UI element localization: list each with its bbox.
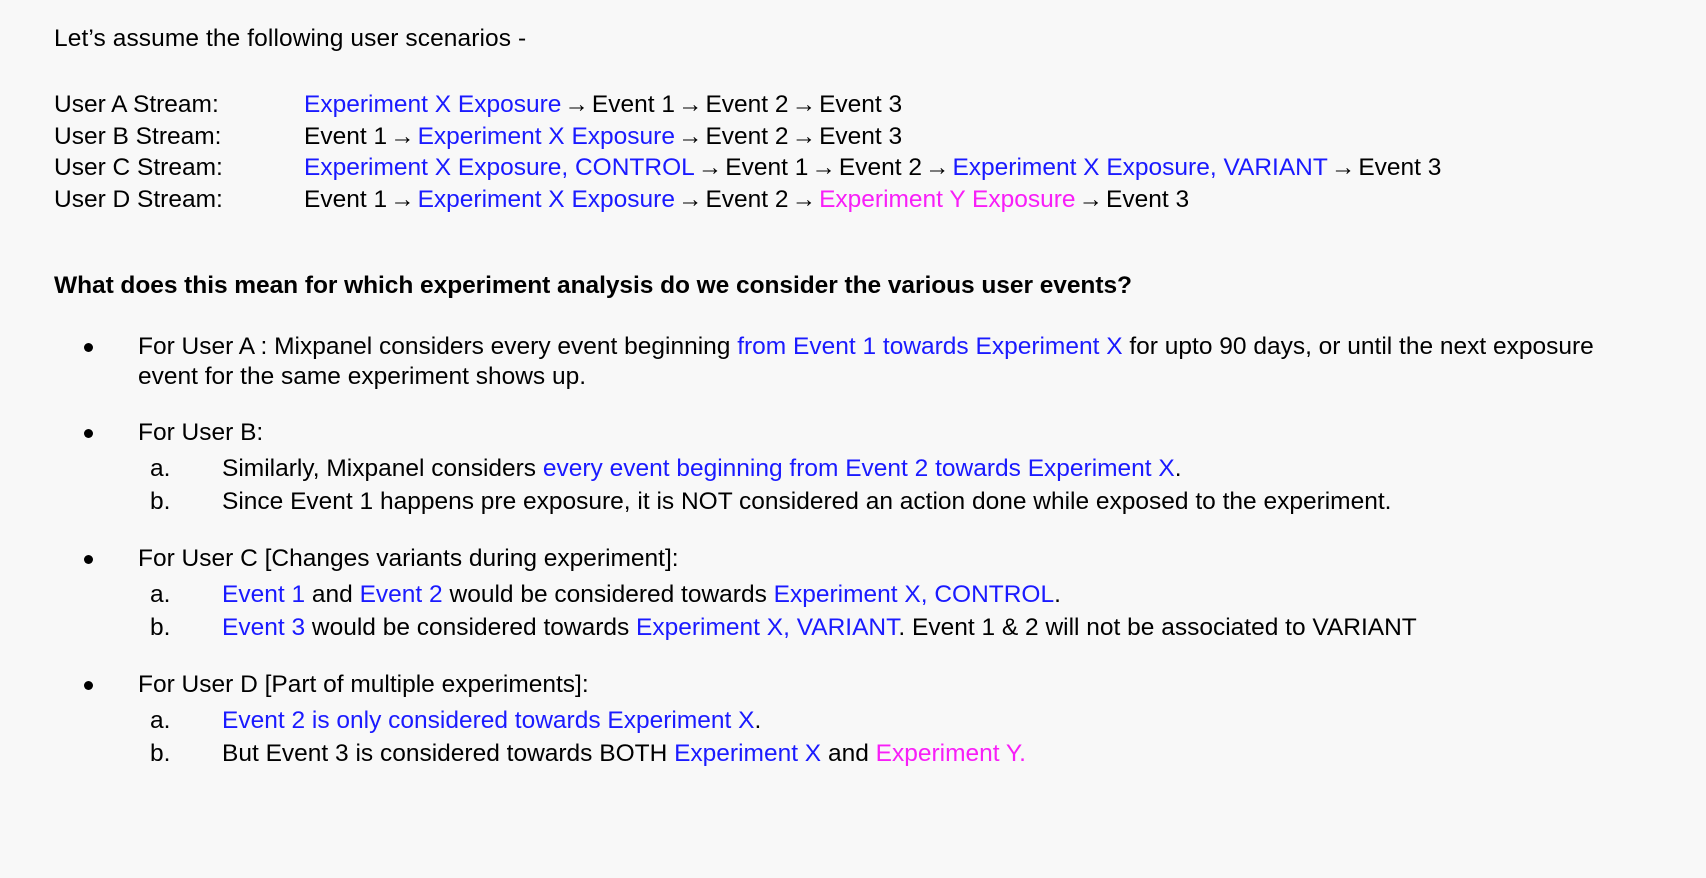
stream-segment: Experiment X Exposure [304, 91, 561, 118]
sub-item-text: But Event 3 is considered towards BOTH E… [222, 740, 1026, 767]
sub-list-user-d: a.Event 2 is only considered towards Exp… [138, 704, 1706, 770]
bullet-item-user-b: For User B:a.Similarly, Mixpanel conside… [54, 418, 1706, 518]
arrow-icon: → [561, 91, 592, 118]
sub-user-c-1-run-3: . Event 1 & 2 will not be associated to … [898, 614, 1416, 641]
sub-user-b-0-run-0: Similarly, Mixpanel considers [222, 455, 543, 482]
stream-row: User B Stream:Event 1→Experiment X Expos… [54, 121, 1706, 153]
sub-item-text: Event 2 is only considered towards Exper… [222, 707, 761, 734]
stream-segment: Event 1 [304, 186, 387, 213]
user-streams-list: User A Stream:Experiment X Exposure→Even… [54, 89, 1706, 215]
stream-segment: Event 3 [819, 123, 902, 150]
stream-flow: Event 1→Experiment X Exposure→Event 2→Ex… [304, 184, 1189, 216]
sub-user-c-0-run-3: would be considered towards [443, 581, 774, 608]
stream-segment: Event 1 [304, 123, 387, 150]
stream-segment: Event 3 [1358, 154, 1441, 181]
document-body: Let’s assume the following user scenario… [0, 0, 1706, 878]
sub-item-marker: a. [150, 704, 190, 737]
bullet-text-user-c: For User C [Changes variants during expe… [138, 544, 1638, 574]
stream-label: User D Stream: [54, 184, 304, 216]
arrow-icon: → [675, 123, 706, 150]
stream-segment: Event 1 [725, 154, 808, 181]
bullet-user-c-run-0: For User C [Changes variants during expe… [138, 545, 679, 572]
stream-segment: Event 3 [819, 91, 902, 118]
sub-item-user-d-b: b.But Event 3 is considered towards BOTH… [138, 737, 1706, 770]
stream-segment: Experiment Y Exposure [819, 186, 1075, 213]
sub-item-marker: b. [150, 611, 190, 644]
sub-user-c-0-run-1: and [305, 581, 360, 608]
sub-user-b-1-run-0: Since Event 1 happens pre exposure, it i… [222, 488, 1391, 515]
arrow-icon: → [695, 154, 726, 181]
stream-segment: Event 2 [705, 186, 788, 213]
sub-item-user-d-a: a.Event 2 is only considered towards Exp… [138, 704, 1706, 737]
arrow-icon: → [808, 154, 839, 181]
bullet-text-user-a: For User A : Mixpanel considers every ev… [138, 332, 1638, 392]
bullet-item-user-d: For User D [Part of multiple experiments… [54, 670, 1706, 770]
sub-user-c-0-run-0: Event 1 [222, 581, 305, 608]
bullet-item-user-a: For User A : Mixpanel considers every ev… [54, 332, 1706, 392]
sub-item-marker: a. [150, 452, 190, 485]
sub-user-b-0-run-1: every event beginning from Event 2 towar… [543, 455, 1175, 482]
arrow-icon: → [675, 91, 706, 118]
stream-segment: Experiment X Exposure, VARIANT [952, 154, 1327, 181]
arrow-icon: → [789, 91, 820, 118]
sub-item-marker: a. [150, 578, 190, 611]
sub-item-text: Event 1 and Event 2 would be considered … [222, 581, 1061, 608]
stream-label: User B Stream: [54, 121, 304, 153]
sub-item-marker: b. [150, 485, 190, 518]
bullet-text-user-d: For User D [Part of multiple experiments… [138, 670, 1638, 700]
stream-segment: Experiment X Exposure [418, 186, 675, 213]
stream-row: User C Stream:Experiment X Exposure, CON… [54, 152, 1706, 184]
bullet-user-d-run-0: For User D [Part of multiple experiments… [138, 671, 589, 698]
sub-user-d-0-run-0: Event 2 is only considered towards Exper… [222, 707, 754, 734]
sub-user-b-0-run-2: . [1175, 455, 1182, 482]
stream-segment: Event 2 [705, 123, 788, 150]
bullet-item-user-c: For User C [Changes variants during expe… [54, 544, 1706, 644]
sub-user-c-1-run-2: Experiment X, VARIANT [636, 614, 898, 641]
sub-item-user-c-a: a.Event 1 and Event 2 would be considere… [138, 578, 1706, 611]
stream-row: User D Stream:Event 1→Experiment X Expos… [54, 184, 1706, 216]
stream-segment: Event 2 [705, 91, 788, 118]
stream-segment: Experiment X Exposure, CONTROL [304, 154, 695, 181]
sub-list-user-c: a.Event 1 and Event 2 would be considere… [138, 578, 1706, 644]
stream-flow: Experiment X Exposure, CONTROL→Event 1→E… [304, 152, 1441, 184]
stream-flow: Event 1→Experiment X Exposure→Event 2→Ev… [304, 121, 902, 153]
sub-user-d-0-run-1: . [754, 707, 761, 734]
bullet-dot-icon [84, 429, 93, 438]
arrow-icon: → [387, 186, 418, 213]
sub-user-d-1-run-2: and [821, 740, 876, 767]
arrow-icon: → [922, 154, 953, 181]
sub-user-d-1-run-3: Experiment Y. [876, 740, 1026, 767]
bullet-user-a-run-0: For User A : Mixpanel considers every ev… [138, 333, 737, 360]
bullet-user-a-run-1: from Event 1 towards Experiment X [737, 333, 1122, 360]
stream-label: User C Stream: [54, 152, 304, 184]
stream-label: User A Stream: [54, 89, 304, 121]
sub-user-c-1-run-0: Event 3 [222, 614, 305, 641]
stream-segment: Event 2 [839, 154, 922, 181]
sub-item-user-b-b: b.Since Event 1 happens pre exposure, it… [138, 485, 1706, 518]
sub-item-user-c-b: b.Event 3 would be considered towards Ex… [138, 611, 1706, 644]
stream-segment: Experiment X Exposure [418, 123, 675, 150]
arrow-icon: → [789, 186, 820, 213]
analysis-bullet-list: For User A : Mixpanel considers every ev… [54, 332, 1706, 770]
bullet-dot-icon [84, 343, 93, 352]
sub-user-c-0-run-4: Experiment X, CONTROL [774, 581, 1054, 608]
section-question: What does this mean for which experiment… [54, 270, 1706, 302]
arrow-icon: → [789, 123, 820, 150]
sub-user-d-1-run-1: Experiment X [674, 740, 821, 767]
sub-item-marker: b. [150, 737, 190, 770]
stream-row: User A Stream:Experiment X Exposure→Even… [54, 89, 1706, 121]
sub-user-c-1-run-1: would be considered towards [305, 614, 636, 641]
intro-line: Let’s assume the following user scenario… [54, 22, 1706, 56]
sub-item-text: Event 3 would be considered towards Expe… [222, 614, 1417, 641]
stream-segment: Event 1 [592, 91, 675, 118]
stream-segment: Event 3 [1106, 186, 1189, 213]
sub-item-text: Since Event 1 happens pre exposure, it i… [222, 488, 1391, 515]
sub-item-user-b-a: a.Similarly, Mixpanel considers every ev… [138, 452, 1706, 485]
arrow-icon: → [387, 123, 418, 150]
sub-user-c-0-run-2: Event 2 [360, 581, 443, 608]
bullet-user-b-run-0: For User B: [138, 419, 263, 446]
arrow-icon: → [675, 186, 706, 213]
bullet-text-user-b: For User B: [138, 418, 1638, 448]
stream-flow: Experiment X Exposure→Event 1→Event 2→Ev… [304, 89, 902, 121]
sub-user-c-0-run-5: . [1054, 581, 1061, 608]
sub-user-d-1-run-0: But Event 3 is considered towards BOTH [222, 740, 674, 767]
sub-list-user-b: a.Similarly, Mixpanel considers every ev… [138, 452, 1706, 518]
arrow-icon: → [1076, 186, 1107, 213]
bullet-dot-icon [84, 681, 93, 690]
sub-item-text: Similarly, Mixpanel considers every even… [222, 455, 1182, 482]
arrow-icon: → [1328, 154, 1359, 181]
bullet-dot-icon [84, 555, 93, 564]
